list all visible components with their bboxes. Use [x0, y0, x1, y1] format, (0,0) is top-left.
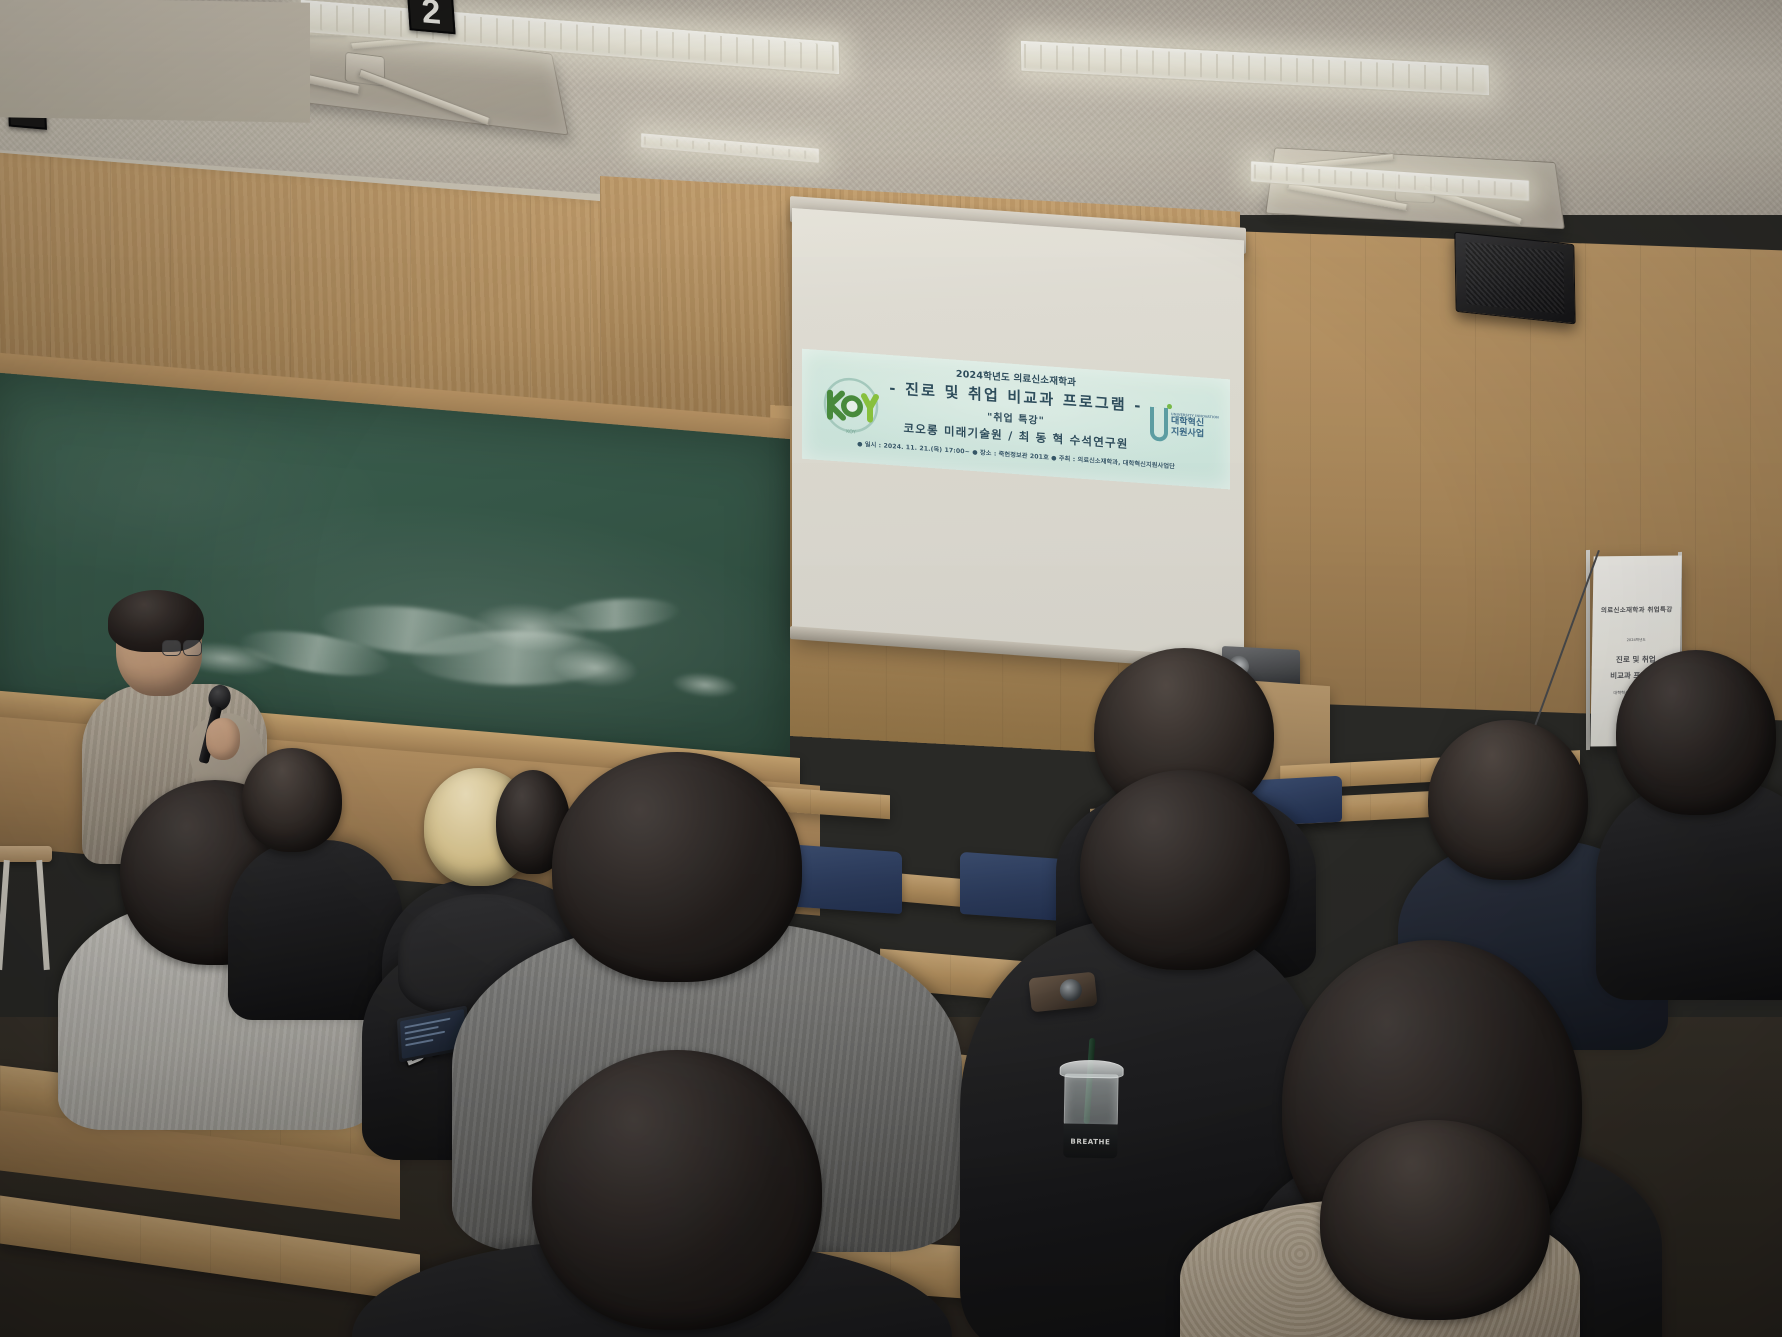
audience-member: [1180, 1140, 1600, 1337]
lecture-hall-photo: 1 2: [0, 0, 1782, 1337]
student-head: [1080, 770, 1290, 970]
iced-drink-cup: BREATHE: [1061, 1060, 1121, 1159]
glasses-lens: [183, 640, 202, 656]
banner-line-2: 2024학년도: [1592, 638, 1680, 644]
stool-leg: [36, 860, 50, 970]
wooden-stool: [0, 846, 52, 976]
stool-leg: [0, 860, 10, 970]
audience-member: [352, 1090, 952, 1337]
student-head: [1320, 1120, 1550, 1320]
glasses-lens: [162, 640, 181, 656]
student-head: [1428, 720, 1588, 880]
camera-on-desk: [1028, 972, 1097, 1013]
wall-speaker-icon: [1454, 232, 1575, 325]
student-head: [532, 1050, 822, 1330]
cup-sleeve: BREATHE: [1063, 1124, 1118, 1159]
projection-screen: KOY UNIVERSITY INNOVATION 대학혁신 지원사업 2024…: [792, 208, 1244, 668]
banner-line-1: 의료신소재학과 취업특강: [1593, 604, 1681, 615]
projected-slide: KOY UNIVERSITY INNOVATION 대학혁신 지원사업 2024…: [802, 349, 1230, 490]
student-head: [242, 748, 342, 852]
student-head: [1616, 650, 1776, 815]
eyeglasses-icon: [162, 640, 202, 657]
cup-body: [1064, 1074, 1119, 1131]
ceiling-marker-2: 2: [406, 0, 455, 34]
wall-far-right: [0, 0, 310, 123]
cup-brand-label: BREATHE: [1063, 1138, 1117, 1147]
audience-member: [1606, 650, 1782, 950]
student-head: [552, 752, 802, 982]
